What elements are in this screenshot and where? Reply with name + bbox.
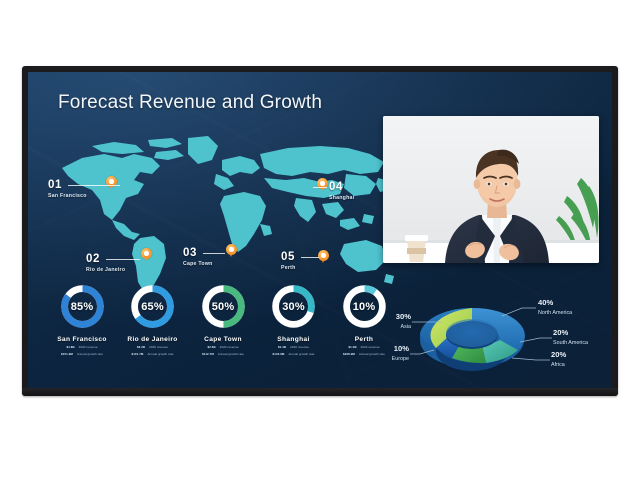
- gauge-metric-growth: $151.9M Annual growth rate: [61, 353, 103, 357]
- region-share-donut-chart[interactable]: 40% North America 30% Asia 20% South Ame…: [390, 278, 602, 378]
- callout-leader-line: [203, 253, 225, 254]
- gauge-value: 65%: [129, 283, 176, 330]
- gauge-rio-de-janeiro[interactable]: 65% Rio de Janeiro $3.2B 2020 revenue $1…: [121, 283, 185, 357]
- svg-text:40%: 40%: [538, 298, 553, 307]
- gauge-metric-growth: $112.7M Annual growth rate: [202, 353, 244, 357]
- svg-text:Africa: Africa: [551, 362, 565, 368]
- svg-text:30%: 30%: [396, 312, 411, 321]
- metric-label: 2020 revenue: [79, 346, 98, 350]
- donut-label-north-america: 40% North America: [538, 298, 572, 316]
- gauge-perth[interactable]: 10% Perth $1.0B 2020 revenue $228.9M Ann…: [332, 283, 396, 357]
- power-led-icon: [605, 391, 608, 394]
- map-callout-shanghai[interactable]: 04 Shanghai: [329, 182, 354, 201]
- growth-label: Annual growth rate: [147, 353, 173, 357]
- gauge-san-francisco[interactable]: 85% San Francisco $4.8B 2020 revenue $15…: [50, 283, 114, 357]
- map-callout-perth[interactable]: 05 Perth: [281, 252, 296, 271]
- callout-leader-line: [68, 185, 120, 186]
- metric-label: 2020 revenue: [290, 346, 309, 350]
- gauge-value: 85%: [59, 283, 106, 330]
- screenshot-stage: Forecast Revenue and Growth: [0, 0, 640, 480]
- callout-label: San Francisco: [48, 194, 87, 199]
- gauge-label: San Francisco: [57, 336, 107, 343]
- gauge-label: Rio de Janeiro: [127, 336, 177, 343]
- gauge-metric-revenue: $1.4B 2020 revenue: [278, 346, 309, 350]
- svg-text:North America: North America: [538, 310, 572, 316]
- donut-label-africa: 20% Africa: [551, 350, 566, 368]
- gauge-value: 10%: [341, 283, 388, 330]
- callout-label: Shanghai: [329, 196, 354, 201]
- donut-gauge: 30%: [270, 283, 317, 330]
- location-pin-icon: [141, 248, 152, 259]
- gauge-metric-revenue: $2.6B 2020 revenue: [207, 346, 238, 350]
- callout-leader-line: [301, 257, 319, 258]
- map-callout-cape-town[interactable]: 03 Cape Town: [183, 248, 213, 267]
- gauge-metric-revenue: $1.0B 2020 revenue: [348, 346, 379, 350]
- svg-text:Europe: Europe: [392, 356, 409, 362]
- growth-value: $112.7M: [202, 353, 214, 357]
- gauge-cape-town[interactable]: 50% Cape Town $2.6B 2020 revenue $112.7M…: [191, 283, 255, 357]
- metric-label: 2020 revenue: [149, 346, 168, 350]
- display-screen: Forecast Revenue and Growth: [28, 72, 612, 388]
- map-callout-san-francisco[interactable]: 01 San Francisco: [48, 180, 87, 199]
- location-pin-icon: [318, 250, 329, 261]
- donut-gauge: 85%: [59, 283, 106, 330]
- map-callout-rio-de-janeiro[interactable]: 02 Rio de Janeiro: [86, 254, 125, 273]
- gauge-shanghai[interactable]: 30% Shanghai $1.4B 2020 revenue $142.6M …: [262, 283, 326, 357]
- growth-label: Annual growth rate: [218, 353, 244, 357]
- location-pin-icon: [226, 244, 237, 255]
- growth-value: $142.6M: [272, 353, 284, 357]
- metric-label: 2020 revenue: [220, 346, 239, 350]
- gauge-metric-growth: $101.7M Annual growth rate: [131, 353, 173, 357]
- map-marker-cape-town[interactable]: [226, 244, 237, 259]
- gauge-value: 50%: [200, 283, 247, 330]
- donut-gauge: 10%: [341, 283, 388, 330]
- donut-label-europe: 10% Europe: [392, 344, 410, 362]
- gauge-metric-growth: $228.9M Annual growth rate: [343, 353, 385, 357]
- donut-gauge: 65%: [129, 283, 176, 330]
- growth-value: $228.9M: [343, 353, 355, 357]
- callout-label: Perth: [281, 266, 296, 271]
- donut-label-south-america: 20% South America: [553, 328, 588, 346]
- svg-text:South America: South America: [553, 340, 588, 346]
- map-marker-san-francisco[interactable]: [106, 176, 117, 191]
- metric-value: $1.0B: [348, 346, 356, 350]
- growth-label: Annual growth rate: [359, 353, 385, 357]
- map-marker-rio-de-janeiro[interactable]: [141, 248, 152, 263]
- page-title: Forecast Revenue and Growth: [58, 92, 322, 114]
- map-marker-shanghai[interactable]: [317, 178, 328, 193]
- metric-value: $4.8B: [66, 346, 74, 350]
- growth-label: Annual growth rate: [77, 353, 103, 357]
- callout-number: 04: [329, 182, 354, 194]
- gauge-row: 85% San Francisco $4.8B 2020 revenue $15…: [50, 283, 396, 376]
- svg-text:20%: 20%: [551, 350, 566, 359]
- metric-value: $1.4B: [278, 346, 286, 350]
- metric-value: $3.2B: [137, 346, 145, 350]
- display-monitor: Forecast Revenue and Growth: [22, 66, 618, 396]
- callout-label: Rio de Janeiro: [86, 268, 125, 273]
- gauge-value: 30%: [270, 283, 317, 330]
- video-conference-inset[interactable]: [383, 116, 599, 263]
- growth-value: $151.9M: [61, 353, 73, 357]
- gauge-metric-revenue: $4.8B 2020 revenue: [66, 346, 97, 350]
- gauge-metric-revenue: $3.2B 2020 revenue: [137, 346, 168, 350]
- map-marker-perth[interactable]: [318, 250, 329, 265]
- growth-label: Annual growth rate: [288, 353, 314, 357]
- callout-leader-line: [313, 187, 327, 188]
- donut-label-asia: 30% Asia: [396, 312, 411, 330]
- svg-text:20%: 20%: [553, 328, 568, 337]
- gauge-label: Shanghai: [277, 336, 309, 343]
- gauge-label: Cape Town: [204, 336, 242, 343]
- donut-gauge: 50%: [200, 283, 247, 330]
- callout-leader-line: [106, 259, 140, 260]
- metric-value: $2.6B: [207, 346, 215, 350]
- svg-text:10%: 10%: [394, 344, 409, 353]
- callout-number: 05: [281, 252, 296, 264]
- gauge-metric-growth: $142.6M Annual growth rate: [272, 353, 314, 357]
- metric-label: 2020 revenue: [361, 346, 380, 350]
- callout-label: Cape Town: [183, 262, 213, 267]
- gauge-label: Perth: [355, 336, 374, 343]
- svg-text:Asia: Asia: [401, 324, 412, 330]
- growth-value: $101.7M: [131, 353, 143, 357]
